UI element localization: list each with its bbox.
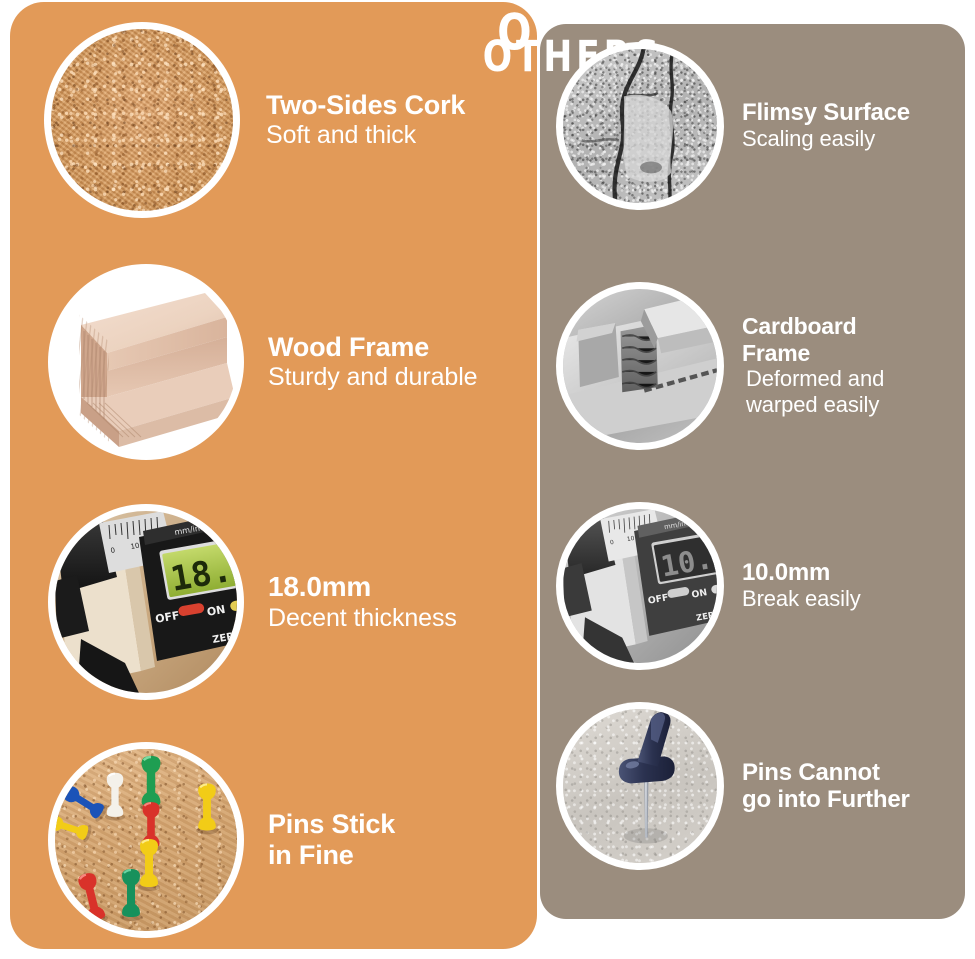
comparison-infographic: OUR Two-Sides Cork Soft and thick — [0, 0, 975, 959]
others-feature-subtitle-frame-line1: Deformed and — [746, 366, 884, 392]
our-feature-text-cork: Two-Sides Cork Soft and thick — [266, 90, 465, 151]
our-feature-text-pins: Pins Stick in Fine — [268, 809, 395, 871]
others-feature-title-pins-line2: go into Further — [742, 786, 910, 813]
our-feature-subtitle-wood-frame: Sturdy and durable — [268, 362, 477, 392]
our-feature-subtitle-thickness: Decent thickness — [268, 603, 457, 633]
push-pins-in-cork-photo — [48, 742, 244, 938]
wood-frame-photo — [48, 264, 244, 460]
others-feature-row-frame: Cardboard Frame Deformed and warped easi… — [556, 282, 884, 450]
our-feature-subtitle-cork: Soft and thick — [266, 120, 465, 150]
others-feature-subtitle-surface: Scaling easily — [742, 126, 910, 152]
our-feature-title-thickness: 18.0mm — [268, 571, 457, 603]
caliper-measuring-18mm-photo: 0 10 18.0 mm/inch OFF ON — [48, 504, 244, 700]
svg-text:10: 10 — [130, 542, 140, 551]
others-feature-title-thickness: 10.0mm — [742, 559, 861, 586]
others-feature-text-frame: Cardboard Frame Deformed and warped easi… — [742, 313, 884, 418]
torn-cardboard-frame-photo — [556, 282, 724, 450]
others-feature-text-surface: Flimsy Surface Scaling easily — [742, 99, 910, 153]
others-feature-title-surface: Flimsy Surface — [742, 99, 910, 126]
our-feature-row-thickness: 0 10 18.0 mm/inch OFF ON — [48, 504, 457, 700]
others-feature-text-pins: Pins Cannot go into Further — [742, 759, 910, 814]
others-feature-text-thickness: 10.0mm Break easily — [742, 559, 861, 613]
our-feature-text-wood-frame: Wood Frame Sturdy and durable — [268, 332, 477, 393]
digital-caliper-grayscale-illustration: 0 10 10.0 mm/inch OFF ON ZERO — [563, 509, 717, 663]
pin-not-going-in-photo — [556, 702, 724, 870]
others-feature-row-pins: Pins Cannot go into Further — [556, 702, 910, 870]
our-feature-row-wood-frame: Wood Frame Sturdy and durable — [48, 264, 477, 460]
cardboard-tear-illustration — [563, 289, 717, 443]
wood-frame-illustration — [55, 271, 237, 453]
our-feature-row-pins: Pins Stick in Fine — [48, 742, 395, 938]
others-feature-title-frame-line2: Frame — [742, 340, 884, 366]
our-feature-title-pins-line1: Pins Stick — [268, 809, 395, 840]
others-feature-row-thickness: 0 10 10.0 mm/inch OFF ON ZERO — [556, 502, 861, 670]
caliper-measuring-10mm-photo: 0 10 10.0 mm/inch OFF ON ZERO — [556, 502, 724, 670]
others-feature-title-frame-line1: Cardboard — [742, 313, 884, 339]
push-pins-illustration — [55, 749, 237, 931]
others-feature-subtitle-thickness: Break easily — [742, 586, 861, 612]
single-pin-illustration — [563, 709, 717, 863]
others-feature-title-pins-line1: Pins Cannot — [742, 759, 910, 786]
our-feature-title-pins-line2: in Fine — [268, 840, 395, 871]
our-feature-title-cork: Two-Sides Cork — [266, 90, 465, 121]
our-feature-title-wood-frame: Wood Frame — [268, 332, 477, 363]
others-feature-row-surface: Flimsy Surface Scaling easily — [556, 42, 910, 210]
others-feature-subtitle-frame-line2: warped easily — [746, 392, 884, 418]
digital-caliper-illustration: 0 10 18.0 mm/inch OFF ON — [55, 511, 237, 693]
cracked-flimsy-surface-photo — [556, 42, 724, 210]
surface-crack-illustration — [563, 49, 717, 203]
our-feature-text-thickness: 18.0mm Decent thickness — [268, 571, 457, 633]
